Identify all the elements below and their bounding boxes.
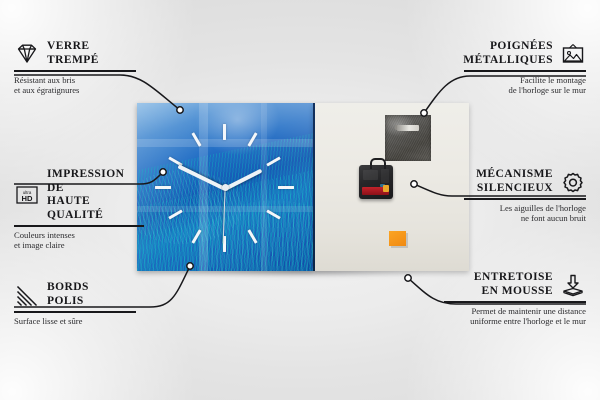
callout-divider	[464, 198, 586, 200]
callout-header: ultra HD IMPRESSION DE HAUTE QUALITÉ	[14, 168, 144, 222]
callout-divider	[14, 311, 136, 313]
press-down-pad-icon	[560, 273, 586, 297]
callout-header: MÉCANISME SILENCIEUX	[464, 168, 586, 195]
diagonal-lines-icon	[14, 283, 40, 307]
callout-bords-polis[interactable]: BORDS POLIS Surface lisse et sûre	[14, 281, 136, 326]
callout-description: Facilite le montage de l'horloge sur le …	[464, 75, 586, 96]
svg-text:HD: HD	[22, 194, 33, 203]
callout-description: Permet de maintenir une distance uniform…	[444, 306, 586, 327]
callout-divider	[444, 301, 586, 303]
callout-divider	[464, 70, 586, 72]
callout-header: BORDS POLIS	[14, 281, 136, 308]
hanger-slot	[397, 125, 419, 131]
callout-description: Les aiguilles de l'horloge ne font aucun…	[464, 203, 586, 224]
diamond-icon	[14, 42, 40, 66]
callout-title: ENTRETOISE EN MOUSSE	[444, 271, 553, 298]
ultra-hd-icon: ultra HD	[14, 183, 40, 207]
mechanism-detail	[381, 169, 389, 183]
callout-poignees-metalliques[interactable]: POIGNÉES MÉTALLIQUES Facilite le montage…	[464, 40, 586, 96]
callout-description: Couleurs intenses et image claire	[14, 230, 144, 251]
callout-title: BORDS POLIS	[47, 281, 89, 308]
hour-marker	[155, 186, 171, 189]
clock-back-panel	[313, 103, 469, 271]
callout-title: MÉCANISME SILENCIEUX	[464, 168, 553, 195]
callout-title: POIGNÉES MÉTALLIQUES	[463, 40, 553, 67]
callout-entretoise-en-mousse[interactable]: ENTRETOISE EN MOUSSE Permet de maintenir…	[444, 271, 586, 327]
callout-header: POIGNÉES MÉTALLIQUES	[464, 40, 586, 67]
callout-mecanisme-silencieux[interactable]: MÉCANISME SILENCIEUX Les aiguilles de l'…	[464, 168, 586, 224]
callout-verre-trempe[interactable]: VERRE TREMPÉ Résistant aux bris et aux é…	[14, 40, 136, 96]
clock-mechanism	[359, 165, 393, 199]
callout-title: VERRE TREMPÉ	[47, 40, 99, 67]
callout-description: Résistant aux bris et aux égratignures	[14, 75, 136, 96]
callout-divider	[14, 70, 136, 72]
hour-marker	[278, 186, 294, 189]
metal-hanger-plate	[385, 115, 431, 161]
infographic-canvas: VERRE TREMPÉ Résistant aux bris et aux é…	[0, 0, 600, 400]
clock-center-pivot	[222, 184, 229, 191]
callout-header: ENTRETOISE EN MOUSSE	[444, 271, 586, 298]
mechanism-hook	[370, 158, 386, 169]
gear-icon	[560, 170, 586, 194]
product-image	[137, 103, 469, 273]
clock-front-glass-panel	[137, 103, 313, 271]
callout-header: VERRE TREMPÉ	[14, 40, 136, 67]
hanging-frame-icon	[560, 42, 586, 66]
hour-marker	[223, 124, 226, 140]
mechanism-detail	[363, 170, 378, 180]
callout-title: IMPRESSION DE HAUTE QUALITÉ	[47, 168, 144, 222]
callout-divider	[14, 225, 144, 227]
battery-terminal	[383, 185, 389, 192]
foam-spacer	[389, 231, 406, 246]
callout-description: Surface lisse et sûre	[14, 316, 136, 327]
callout-impression-haute-qualite[interactable]: ultra HD IMPRESSION DE HAUTE QUALITÉ Cou…	[14, 168, 144, 251]
panel-edge	[313, 103, 315, 271]
